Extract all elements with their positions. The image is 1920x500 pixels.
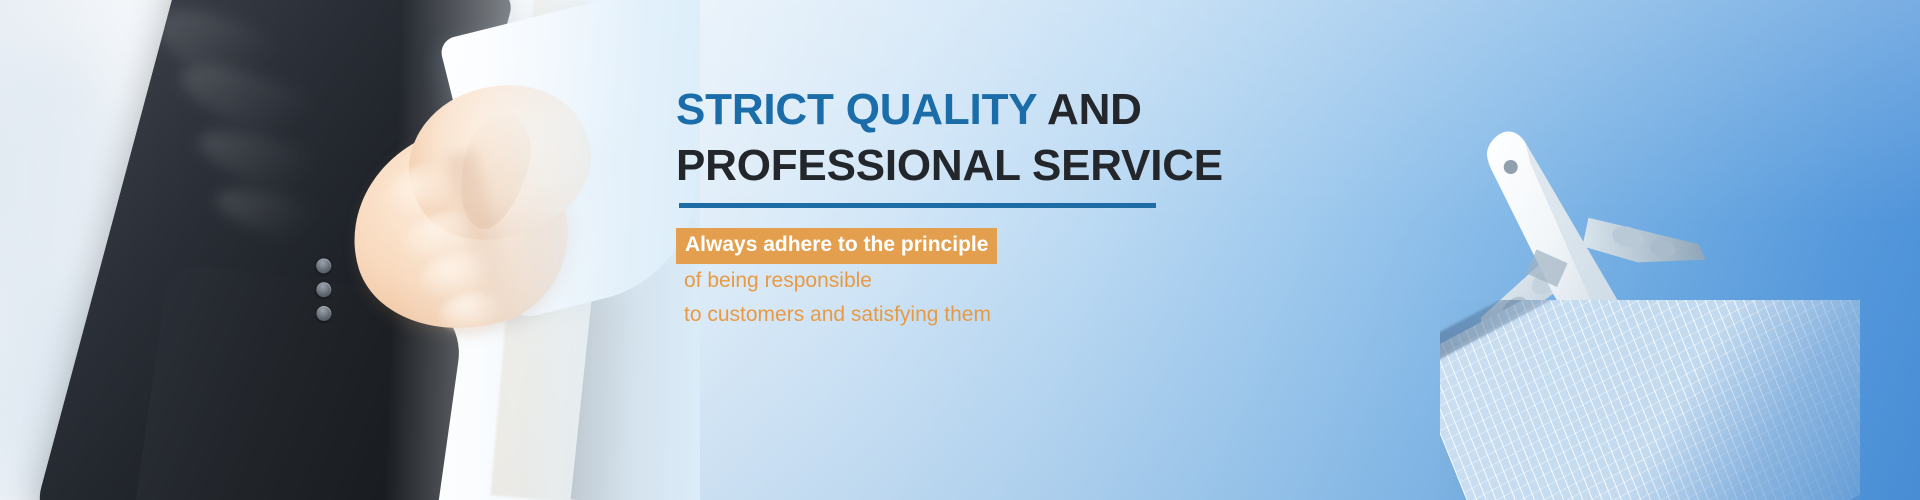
glass-skyscraper-photo: [1440, 300, 1860, 500]
headline-accent-text: STRICT QUALITY: [676, 85, 1037, 134]
tagline-line-two: of being responsible: [676, 264, 1196, 298]
photo-edge-fade: [0, 0, 700, 500]
handshake-photo: [0, 0, 700, 500]
headline-rest-text: AND: [1037, 85, 1142, 134]
tagline-line-three: to customers and satisfying them: [676, 298, 1196, 332]
tower-sky-blend: [1440, 300, 1860, 500]
headline-line-two: PROFESSIONAL SERVICE: [676, 141, 1223, 190]
banner-content: STRICT QUALITY AND PROFESSIONAL SERVICE …: [676, 0, 1196, 500]
headline-divider: [679, 203, 1156, 208]
promo-banner: STRICT QUALITY AND PROFESSIONAL SERVICE …: [0, 0, 1920, 500]
banner-tagline: Always adhere to the principle of being …: [676, 228, 1196, 332]
banner-headline: STRICT QUALITY AND PROFESSIONAL SERVICE: [676, 82, 1196, 194]
tagline-highlight: Always adhere to the principle: [676, 228, 997, 264]
